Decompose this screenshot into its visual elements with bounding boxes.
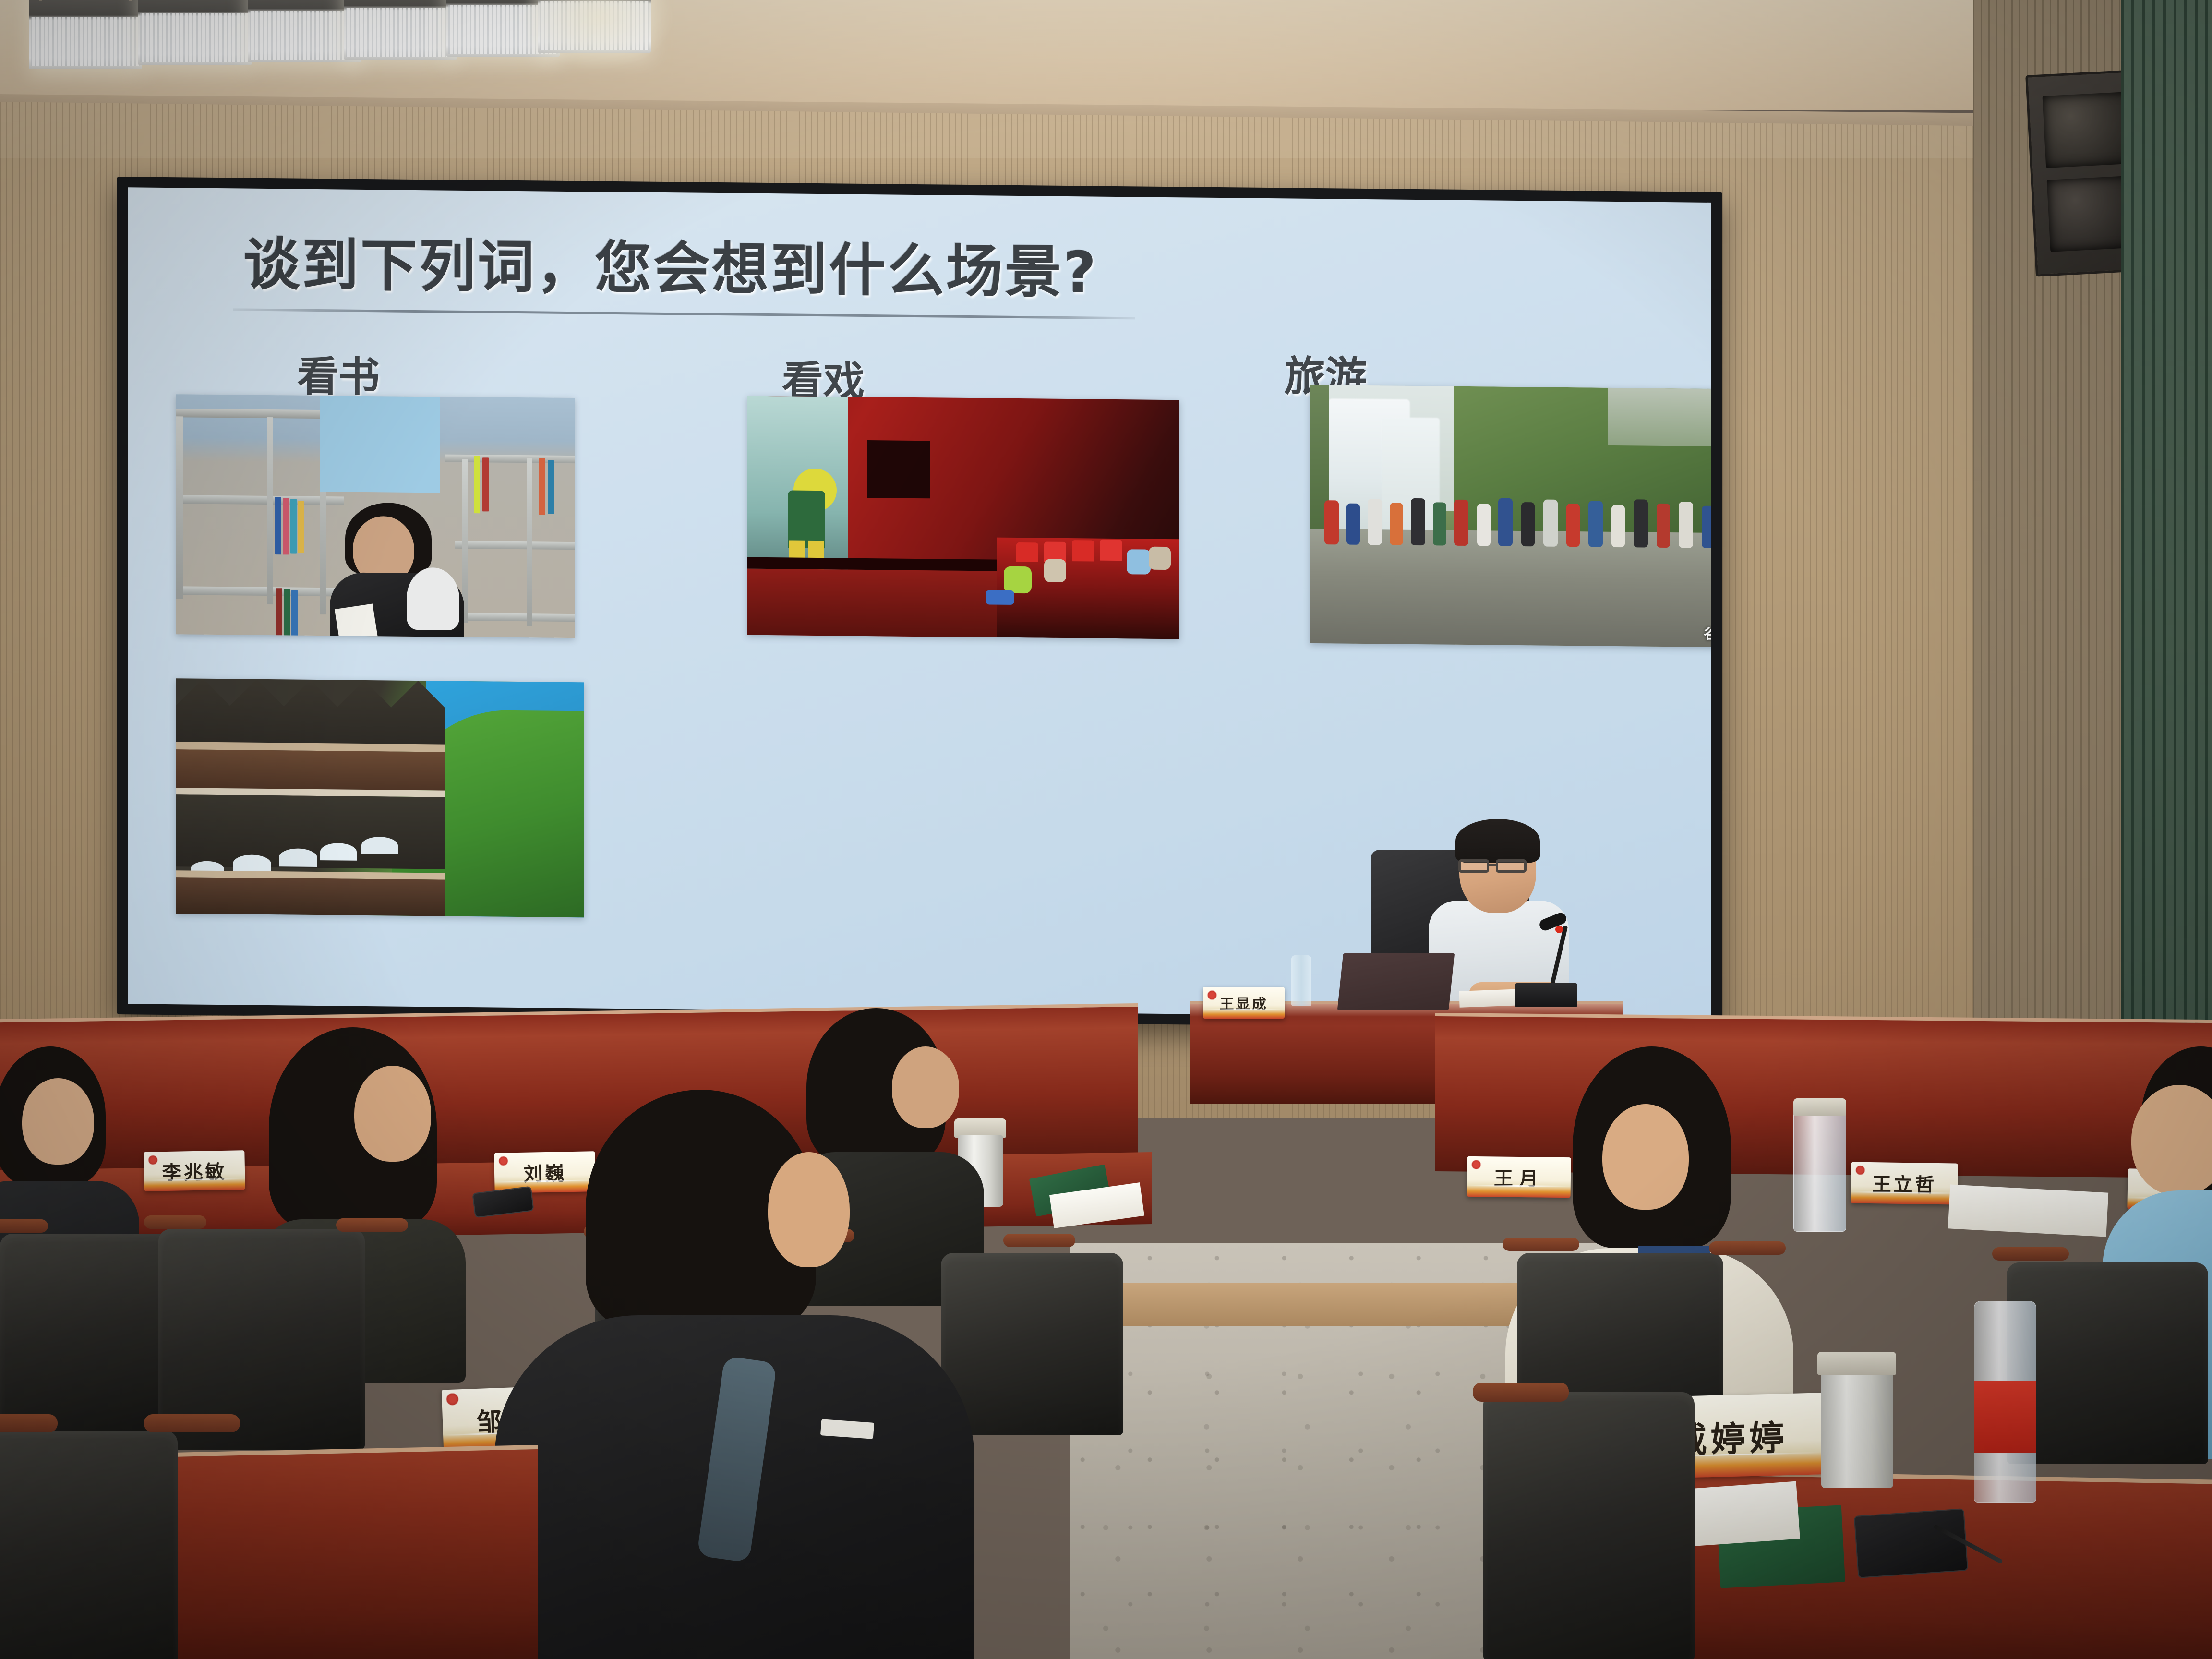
presenter-laptop [1337, 953, 1455, 1010]
chair-armrest-right-1 [1503, 1238, 1579, 1251]
theatre-performance-photo [747, 396, 1179, 639]
chair-armrest-right-2 [1709, 1241, 1786, 1255]
foreground-chair-left [0, 1431, 178, 1659]
microphone-base-unit [1515, 983, 1577, 1007]
ceiling-light-6 [538, 0, 651, 53]
nameplate-text: 李兆敏 [162, 1156, 227, 1185]
nameplate-seal-icon [1207, 990, 1217, 1000]
chair-armrest-left-2 [144, 1215, 206, 1229]
ceiling-light-4 [344, 0, 457, 60]
waterfall-tourists-photo: 谷@我知道了 [1310, 385, 1711, 648]
chair-armrest-foreground-right [1473, 1382, 1569, 1402]
photo-watermark: 谷@我知道了 [1704, 622, 1711, 644]
mountain-lodge-photo [176, 678, 584, 917]
nameplate-seal-icon [446, 1393, 459, 1406]
nameplate-wang-yue: 王月 [1467, 1156, 1571, 1198]
nameplate-seal-icon [148, 1155, 157, 1165]
nameplate-seal-icon [1471, 1160, 1481, 1169]
travel-mug-lid-foreground [1817, 1352, 1896, 1375]
slide-title: 谈到下列词，您会想到什么场景? [243, 218, 1098, 309]
smartphone-foreground [1854, 1508, 1969, 1578]
audience-chair-left-4 [941, 1253, 1123, 1435]
nameplate-presenter: 王显成 [1203, 987, 1285, 1019]
water-bottle-label [1974, 1381, 2036, 1453]
nameplate-text: 刘巍 [523, 1158, 567, 1187]
nameplate-seal-icon [1855, 1166, 1865, 1175]
chair-armrest-right-3 [1992, 1247, 2069, 1261]
nameplate-wang-lizhe: 王立哲 [1851, 1162, 1958, 1204]
nameplate-text: 王月 [1494, 1163, 1544, 1191]
presenter-glasses-right [1496, 859, 1527, 873]
conference-room-photo: 谈到下列词，您会想到什么场景? 看书 看戏 旅游 [0, 0, 2212, 1659]
chair-armrest-left-3 [336, 1218, 408, 1232]
ceiling-light-2 [138, 0, 252, 65]
chair-armrest-foreground-left [0, 1414, 58, 1432]
chair-armrest-foreground-left-2 [144, 1414, 240, 1432]
audience-chair-right-2 [2007, 1262, 2208, 1464]
microphone-indicator-light [1555, 926, 1563, 933]
thermos-lid-right [1793, 1098, 1846, 1116]
chair-armrest-left-6 [1003, 1234, 1075, 1247]
slide-title-divider [233, 308, 1135, 319]
wooden-step [1104, 1283, 1565, 1326]
presenter-glasses-bridge [1489, 864, 1497, 866]
audience-chair-left-1 [0, 1234, 173, 1435]
nameplate-seal-icon [498, 1156, 508, 1166]
ceiling-light-1 [29, 0, 142, 69]
green-curtain [2121, 0, 2212, 1114]
thermos-flask-right [1793, 1107, 1846, 1232]
nameplate-liu-wei: 刘巍 [494, 1151, 595, 1193]
presenter-hair [1455, 819, 1540, 863]
library-bookshelves-photo [176, 394, 575, 638]
paper-sheet-right [1948, 1184, 2108, 1237]
slide-keyword-reading: 看书 [297, 343, 380, 404]
nameplate-li-zhaomin: 李兆敏 [144, 1150, 245, 1191]
presenter-glasses-left [1458, 859, 1489, 873]
travel-mug-foreground [1821, 1368, 1893, 1488]
chair-armrest-left-1 [0, 1219, 48, 1233]
foreground-chair-right [1483, 1392, 1695, 1659]
podium-water-bottle [1291, 955, 1311, 1006]
